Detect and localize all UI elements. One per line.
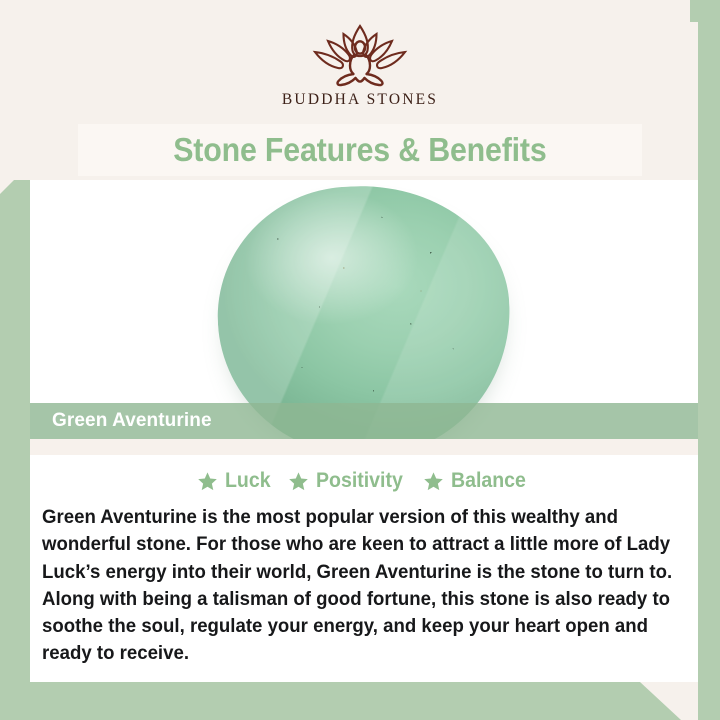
stone-photo xyxy=(30,180,698,440)
decorative-band-left xyxy=(0,180,30,720)
benefit-label: Luck xyxy=(225,469,271,493)
benefit-label: Positivity xyxy=(316,469,403,493)
brand-name: BUDDHA STONES xyxy=(282,92,438,108)
benefit-item: Positivity xyxy=(288,469,409,493)
benefit-item: Luck xyxy=(197,469,274,493)
content-panel: Luck Positivity Balance Green Aventurine… xyxy=(30,455,698,682)
stone-name-bar: Green Aventurine xyxy=(30,403,698,439)
infographic-page: BUDDHA STONES Stone Features & Benefits … xyxy=(0,0,720,720)
star-icon xyxy=(288,471,309,492)
separator-strip xyxy=(30,439,698,455)
decorative-band-bottom xyxy=(0,682,720,720)
page-title: Stone Features & Benefits xyxy=(173,131,546,169)
decorative-band-right xyxy=(698,0,720,720)
stone-description: Green Aventurine is the most popular ver… xyxy=(42,504,701,668)
stone-name-label: Green Aventurine xyxy=(52,410,212,432)
benefit-item: Balance xyxy=(423,469,532,493)
lotus-meditation-icon xyxy=(285,22,435,88)
brand-logo: BUDDHA STONES xyxy=(30,22,690,108)
star-icon xyxy=(197,471,218,492)
benefits-row: Luck Positivity Balance xyxy=(30,455,698,493)
title-banner: Stone Features & Benefits xyxy=(78,124,642,176)
header: BUDDHA STONES Stone Features & Benefits xyxy=(30,0,690,180)
green-aventurine-stone-image xyxy=(211,180,517,440)
star-icon xyxy=(423,471,444,492)
benefit-label: Balance xyxy=(451,469,526,493)
